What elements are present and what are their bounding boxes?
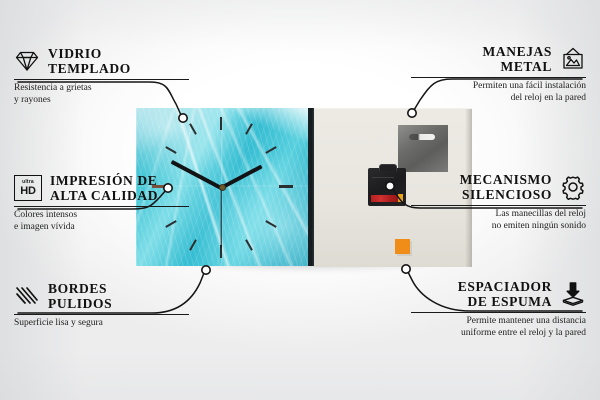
callout-rule — [14, 314, 189, 315]
callout-manejas-metal: MANEJAS METAL Permiten una fácil instala… — [411, 44, 586, 104]
battery — [371, 195, 399, 202]
foam-spacer — [395, 239, 410, 254]
callout-desc: Superficie lisa y segura — [14, 318, 189, 330]
ultra-hd-icon: ultra HD — [14, 175, 42, 201]
ultra-hd-big-label: HD — [20, 186, 36, 197]
callout-mecanismo-silencioso: MECANISMO SILENCIOSO Las manecillas del … — [411, 172, 586, 232]
mechanism-seam — [372, 177, 394, 178]
polished-edges-icon — [14, 283, 40, 309]
callout-title: MANEJAS METAL — [483, 44, 552, 74]
clock-hour-hand — [220, 165, 262, 190]
callout-rule — [411, 205, 586, 206]
clock-mechanism — [368, 168, 406, 206]
callout-bordes-pulidos: BORDES PULIDOS Superficie lisa y segura — [14, 281, 189, 330]
callout-impresion-alta-calidad: ultra HD IMPRESIÓN DE ALTA CALIDAD Color… — [14, 173, 189, 233]
callout-desc: Las manecillas del reloj no emiten ningú… — [411, 209, 586, 232]
callout-desc: Permiten una fácil instalación del reloj… — [411, 81, 586, 104]
callout-vidrio-templado: VIDRIO TEMPLADO Resistencia a grietas y … — [14, 46, 189, 106]
callout-title: VIDRIO TEMPLADO — [48, 46, 131, 76]
diamond-icon — [14, 48, 40, 74]
clock-second-hand — [220, 188, 221, 248]
callout-title: ESPACIADOR DE ESPUMA — [458, 279, 552, 309]
arrow-down-stack-icon — [560, 281, 586, 307]
callout-espaciador-de-espuma: ESPACIADOR DE ESPUMA Permite mantener un… — [411, 279, 586, 339]
callout-title: MECANISMO SILENCIOSO — [460, 172, 552, 202]
metal-hanger-plate — [398, 125, 448, 172]
callout-rule — [411, 77, 586, 78]
mechanism-tab — [379, 164, 397, 171]
gear-icon — [560, 174, 586, 200]
callout-desc: Permite mantener una distancia uniforme … — [411, 316, 586, 339]
callout-title: BORDES PULIDOS — [48, 281, 112, 311]
callout-desc: Resistencia a grietas y rayones — [14, 83, 189, 106]
infographic-canvas: VIDRIO TEMPLADO Resistencia a grietas y … — [0, 0, 600, 400]
callout-desc: Colores intensos e imagen vívida — [14, 210, 189, 233]
callout-rule — [411, 312, 586, 313]
callout-title: IMPRESIÓN DE ALTA CALIDAD — [50, 173, 158, 203]
picture-frame-hook-icon — [560, 46, 586, 72]
ultra-hd-small-label: ultra — [22, 180, 34, 185]
battery-terminal — [398, 194, 403, 202]
clock-center-cap — [219, 184, 226, 191]
hanger-slot — [409, 134, 435, 140]
callout-rule — [14, 206, 189, 207]
callout-rule — [14, 79, 189, 80]
